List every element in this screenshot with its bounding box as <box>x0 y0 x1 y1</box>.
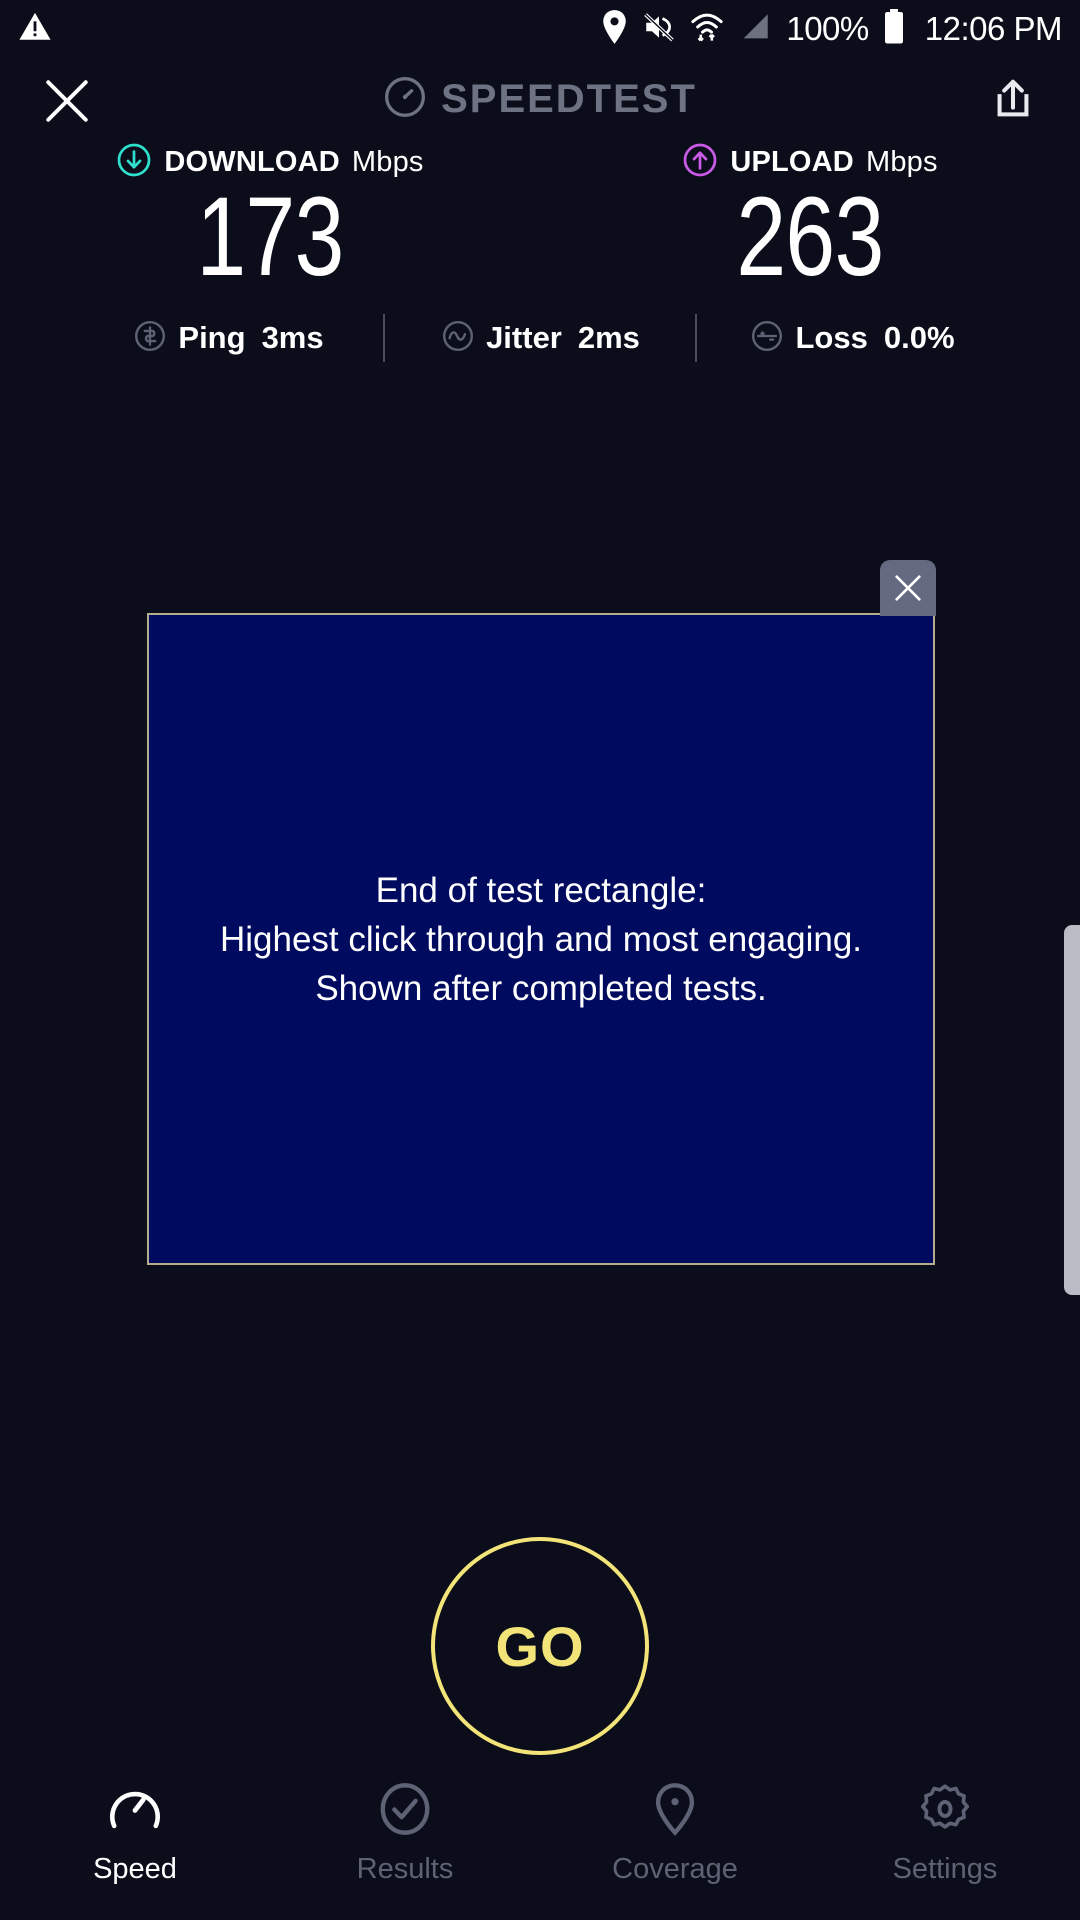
loss-icon <box>749 318 785 359</box>
results-panel: DOWNLOAD Mbps 173 UPLOAD Mbps 263 <box>0 140 1080 373</box>
nav-item-coverage[interactable]: Coverage <box>540 1768 810 1920</box>
wifi-icon <box>690 10 724 49</box>
scrollbar[interactable] <box>1064 925 1080 1295</box>
mute-icon <box>642 10 676 49</box>
warning-triangle-icon <box>18 10 52 49</box>
nav-item-results[interactable]: Results <box>270 1768 540 1920</box>
jitter-value: 2ms <box>578 320 640 356</box>
loss-metric: Loss 0.0% <box>697 318 1007 359</box>
share-button[interactable] <box>982 70 1044 132</box>
metrics-row: Ping 3ms Jitter 2ms <box>0 303 1080 373</box>
download-value: 173 <box>196 184 343 289</box>
upload-arrow-icon <box>682 142 718 183</box>
battery-full-icon <box>883 9 905 50</box>
advertisement-banner[interactable]: End of test rectangle: Highest click thr… <box>147 613 935 1265</box>
ping-label: Ping <box>178 320 245 356</box>
gear-icon <box>916 1780 974 1843</box>
ping-metric: Ping 3ms <box>73 318 383 359</box>
upload-value: 263 <box>736 184 883 289</box>
speedometer-icon <box>106 1780 164 1843</box>
bottom-nav: Speed Results Coverage Settings <box>0 1768 1080 1920</box>
loss-label: Loss <box>795 320 867 356</box>
jitter-label: Jitter <box>486 320 562 356</box>
location-pin-icon <box>601 10 628 49</box>
status-bar-left <box>18 10 52 49</box>
nav-item-settings[interactable]: Settings <box>810 1768 1080 1920</box>
ping-value: 3ms <box>262 320 324 356</box>
location-pin-icon <box>646 1780 704 1843</box>
status-bar: 100% 12:06 PM <box>0 0 1080 58</box>
close-button[interactable] <box>36 70 98 132</box>
app-header: SPEEDTEST <box>0 58 1080 140</box>
download-unit: Mbps <box>352 146 424 179</box>
check-circle-icon <box>376 1780 434 1843</box>
share-icon <box>990 76 1036 127</box>
nav-label-results: Results <box>357 1853 454 1886</box>
nav-label-speed: Speed <box>93 1853 177 1886</box>
speedometer-icon <box>383 75 427 124</box>
upload-result: UPLOAD Mbps 263 <box>540 140 1080 289</box>
download-arrow-icon <box>116 142 152 183</box>
brand: SPEEDTEST <box>0 58 1080 140</box>
jitter-icon <box>440 318 476 359</box>
page-title: SPEEDTEST <box>441 77 697 122</box>
speeds-row: DOWNLOAD Mbps 173 UPLOAD Mbps 263 <box>0 140 1080 289</box>
loss-value: 0.0% <box>884 320 955 356</box>
nav-item-speed[interactable]: Speed <box>0 1768 270 1920</box>
download-result: DOWNLOAD Mbps 173 <box>0 140 540 289</box>
go-button[interactable]: GO <box>431 1537 649 1755</box>
ad-close-button[interactable] <box>880 560 936 616</box>
nav-label-settings: Settings <box>893 1853 998 1886</box>
status-bar-right: 100% 12:06 PM <box>601 9 1062 50</box>
ad-text: End of test rectangle: Highest click thr… <box>210 866 872 1013</box>
jitter-metric: Jitter 2ms <box>385 318 695 359</box>
go-button-label: GO <box>495 1614 584 1679</box>
battery-percent-label: 100% <box>786 10 868 48</box>
ping-icon <box>132 318 168 359</box>
cellular-signal-icon <box>738 10 772 49</box>
nav-label-coverage: Coverage <box>612 1853 738 1886</box>
clock-label: 12:06 PM <box>925 10 1062 48</box>
